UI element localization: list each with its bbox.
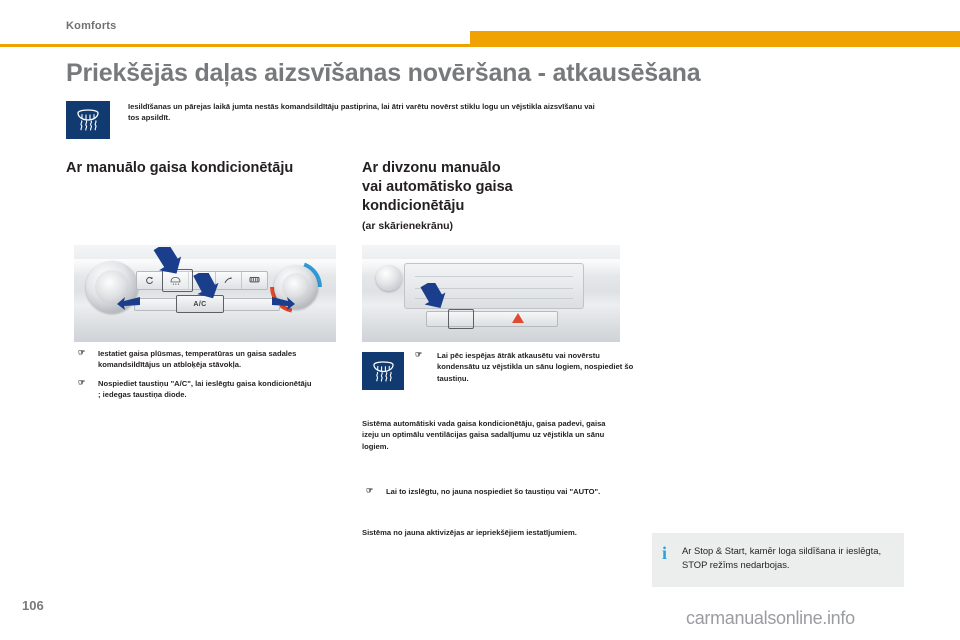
watermark: carmanualsonline.info (686, 608, 855, 629)
list-item: ☞ Iestatiet gaisa plūsmas, temperatūras … (74, 348, 314, 371)
bullet-marker-icon: ☞ (78, 349, 87, 356)
defrost-windscreen-icon (66, 101, 110, 139)
list-item-text: Lai to izslēgtu, no jauna nospiediet šo … (386, 487, 600, 496)
defrost-windscreen-icon (362, 352, 404, 390)
info-icon: i (662, 544, 670, 562)
arrow-to-demist-touch-button (418, 283, 456, 317)
list-item-text: Nospiediet taustiņu "A/C", lai ieslēgtu … (98, 379, 312, 399)
bullet-marker-icon: ☞ (366, 487, 375, 494)
right-column-heading: Ar divzonu manuālo vai automātisko gaisa… (362, 159, 612, 234)
bullet-marker-icon: ☞ (415, 351, 424, 358)
rear-window-demist-button[interactable] (242, 272, 267, 289)
right-heading-sub: (ar skārienekrānu) (362, 218, 612, 234)
manual-page: Komforts Priekšējās daļas aizsvīšanas no… (0, 0, 960, 640)
right-heading-line3: kondicionētāju (362, 198, 464, 214)
left-column-bullets: ☞ Iestatiet gaisa plūsmas, temperatūras … (74, 348, 314, 408)
page-title: Priekšējās daļas aizsvīšanas novēršana -… (66, 58, 896, 88)
arrow-to-temp-slider-right (270, 293, 296, 315)
list-item-text: Lai pēc iespējas ātrāk atkausētu vai nov… (437, 351, 633, 383)
right-paragraph-1: Sistēma automātiski vada gaisa kondicion… (362, 418, 620, 452)
bullet-marker-icon: ☞ (78, 379, 87, 386)
right-heading-line1: Ar divzonu manuālo (362, 160, 501, 176)
left-column-heading: Ar manuālo gaisa kondicionētāju (66, 159, 316, 178)
right-paragraph-2: Sistēma no jauna aktivizējas ar iepriekš… (362, 527, 620, 538)
arrow-to-fan-slider-left (116, 293, 142, 315)
page-header: Komforts (0, 0, 960, 46)
intro-paragraph: Iesildīšanas un pārejas laikā jumta nest… (128, 101, 606, 123)
manual-climate-control-panel: A/C (74, 245, 336, 342)
header-accent-rule (0, 44, 470, 47)
right-heading-line2: vai automātisko gaisa (362, 179, 513, 195)
left-rotary-knob[interactable] (376, 265, 402, 291)
page-number: 106 (22, 598, 44, 613)
dual-zone-touchscreen-climate-panel (362, 245, 620, 342)
header-corner (0, 0, 58, 44)
arrow-to-ac-button (190, 273, 230, 307)
right-bullet-2: ☞ Lai to izslēgtu, no jauna nospiediet š… (362, 486, 644, 497)
header-accent-block (470, 31, 960, 47)
arrow-to-demist-button (150, 247, 194, 283)
info-note-text: Ar Stop & Start, kamēr loga sildīšana ir… (682, 544, 892, 572)
hazard-warning-icon[interactable] (512, 313, 524, 323)
right-column-bullet: ☞ Lai pēc iespējas ātrāk atkausētu vai n… (415, 350, 642, 384)
section-label: Komforts (66, 20, 117, 32)
list-item-text: Iestatiet gaisa plūsmas, temperatūras un… (98, 349, 296, 369)
info-note-box: i Ar Stop & Start, kamēr loga sildīšana … (652, 533, 904, 587)
list-item: ☞ Nospiediet taustiņu "A/C", lai ieslēgt… (74, 378, 314, 401)
